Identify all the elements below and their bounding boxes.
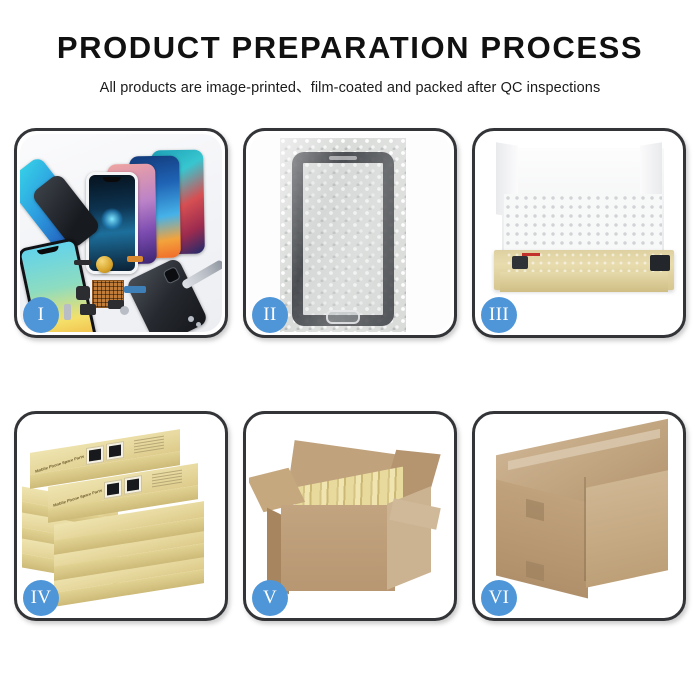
box-tray-front-wall [500,272,668,292]
home-button-icon [326,310,360,324]
earpiece-slot-icon [329,156,357,160]
process-step-card-3[interactable]: III [472,128,686,338]
taptic-part [80,304,96,315]
flex-cable-part-1 [127,256,143,262]
box-window-phone-b2 [124,475,142,495]
box-window-phone-b1 [106,441,124,461]
process-step-card-2[interactable]: II [243,128,457,338]
screen-connector-right [650,255,670,271]
process-step-grid: I II [0,128,700,621]
carton-front-face [281,505,395,591]
phone-notch-icon [103,177,121,182]
step-badge-6: VI [481,580,517,616]
sealed-carton-vertical-edge [584,477,586,581]
screen-connector-left [512,256,528,269]
flex-cable-part-2 [124,286,146,293]
camera-module-icon [164,267,180,283]
sealed-carton-side-face [586,470,668,587]
step-badge-5: V [252,580,288,616]
step-badge-3: III [481,297,517,333]
page-title: PRODUCT PREPARATION PROCESS [0,30,700,66]
sim-tray-part [64,304,71,320]
step-badge-1: I [23,297,59,333]
bubble-wrap-sheet [280,138,406,332]
repair-tweezers-icon [181,259,222,290]
screw-part [120,306,129,315]
stacked-box-printed-1: Mobile Phone Spare Parts [30,429,180,475]
screw-part [188,316,194,322]
box-window-phone-a1 [86,445,104,465]
box-window-phone-a2 [104,479,122,499]
process-step-card-6[interactable]: VI [472,411,686,621]
vibration-motor-part [96,256,113,273]
process-step-card-4[interactable]: Mobile Phone Spare Parts Mobile Phone Sp… [14,411,228,621]
battery-connector-part [74,260,92,265]
step-badge-2: II [252,297,288,333]
phone-housing-back [125,257,209,332]
foam-padding [504,194,662,256]
phone-notch-icon [37,246,59,255]
phone-glass-panel [292,152,394,326]
screw-part [196,322,201,327]
process-step-card-1[interactable]: I [14,128,228,338]
step-badge-4: IV [23,580,59,616]
process-step-card-5[interactable]: V [243,411,457,621]
speaker-part [76,286,90,300]
page-subtitle: All products are image-printed、film-coat… [0,76,700,97]
page-header: PRODUCT PREPARATION PROCESS All products… [0,0,700,97]
